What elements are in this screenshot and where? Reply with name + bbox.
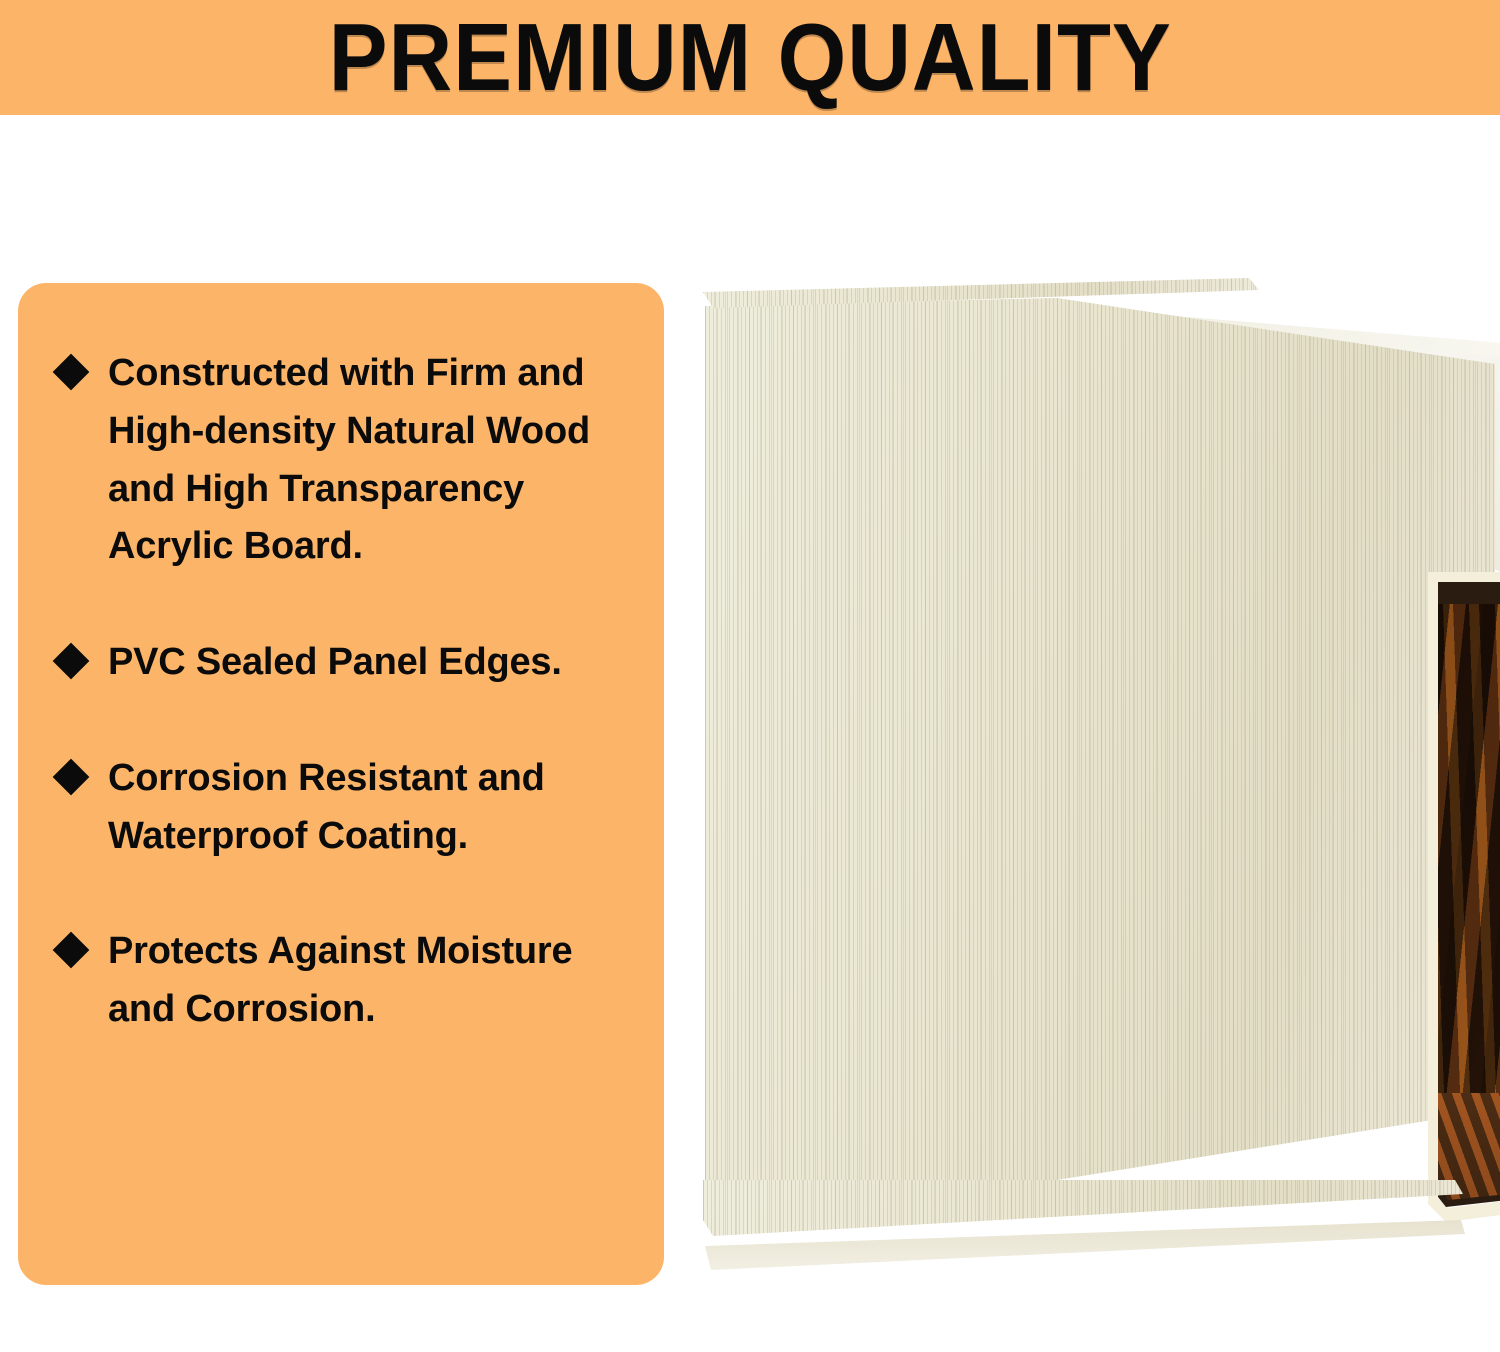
wood-front-panel [705, 298, 1500, 1298]
list-item: PVC Sealed Panel Edges. [58, 634, 644, 692]
premium-quality-banner: PREMIUM QUALITY [0, 0, 1500, 115]
window-scene [1438, 582, 1500, 1207]
base-bottom-edge [705, 1220, 1500, 1290]
feature-text: Corrosion Resistant and Waterproof Coati… [108, 750, 608, 866]
feature-highlights-card: Constructed with Firm and High-density N… [18, 283, 664, 1285]
list-item: Constructed with Firm and High-density N… [58, 345, 644, 576]
list-item: Protects Against Moisture and Corrosion. [58, 923, 644, 1039]
diamond-bullet-icon [53, 354, 90, 391]
banner-title: PREMIUM QUALITY [328, 10, 1171, 106]
feature-bullet-list: Constructed with Firm and High-density N… [58, 345, 644, 1039]
feature-text: PVC Sealed Panel Edges. [108, 634, 562, 692]
acrylic-glare [1438, 582, 1500, 1207]
diamond-bullet-icon [53, 643, 90, 680]
feature-text: Constructed with Firm and High-density N… [108, 345, 608, 576]
feature-text: Protects Against Moisture and Corrosion. [108, 923, 608, 1039]
viewing-window [1438, 582, 1500, 1207]
list-item: Corrosion Resistant and Waterproof Coati… [58, 750, 644, 866]
diamond-bullet-icon [53, 932, 90, 969]
product-photo [665, 120, 1500, 1352]
diamond-bullet-icon [53, 758, 90, 795]
